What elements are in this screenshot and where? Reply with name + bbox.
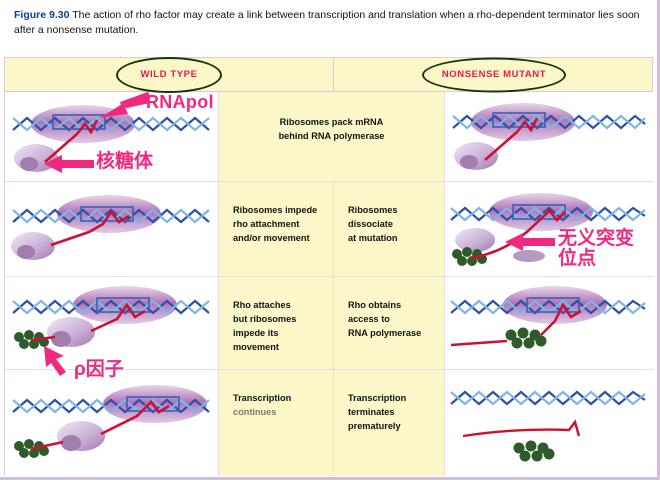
caption-cell-nonsense-row4: Transcription terminates prematurely: [334, 370, 445, 476]
released-mrna-icon: [463, 422, 579, 436]
table-header: WILD TYPE NONSENSE MUTANT: [5, 58, 652, 92]
annotation-nonsense-site-line1: 无义突变: [558, 229, 634, 249]
annotation-nonsense-site-line2: 位点: [558, 249, 634, 269]
caption-cell-nonsense-row3: Rho obtains access to RNA polymerase: [334, 277, 445, 369]
table-row: Rho attaches but ribosomes impede its mo…: [5, 277, 652, 370]
ribosome-icon: [57, 421, 105, 451]
table-row: Ribosomes impede rho attachment and/or m…: [5, 182, 652, 277]
annotation-rho-factor-label: ρ因子: [74, 360, 124, 380]
table-row: Transcription continues Transcription te…: [5, 370, 652, 476]
caption-cell-wild-row4: Transcription continues: [219, 370, 334, 476]
annotation-arrow-nonsense-site-icon: [505, 232, 555, 254]
illustration-nonsense-step3: [445, 277, 653, 369]
illustration-nonsense-step1: [445, 92, 653, 181]
dissociated-ribosome-large-icon: [455, 228, 495, 252]
annotation-ribosome-label: 核糖体: [96, 152, 153, 172]
header-label-wild-type: WILD TYPE: [140, 69, 197, 80]
row4-left-line2: continues: [233, 406, 327, 420]
rho-factor-icon: [514, 441, 555, 462]
illustration-wild-type-step3: [5, 277, 219, 369]
annotation-arrow-ribosome-icon: [44, 154, 94, 176]
illustration-nonsense-step4: [445, 370, 653, 476]
annotation-rna-pol-label: RNApol: [146, 92, 214, 113]
table-body: Ribosomes pack mRNA behind RNA polymeras…: [5, 92, 652, 475]
caption-cell-row1: Ribosomes pack mRNA behind RNA polymeras…: [219, 92, 445, 181]
row1-span-text: Ribosomes pack mRNA behind RNA polymeras…: [219, 116, 444, 144]
row3-right-text: Rho obtains access to RNA polymerase: [348, 299, 438, 341]
annotation-arrow-rna-pol-icon: [98, 94, 152, 120]
row2-right-text: Ribosomes dissociate at mutation: [348, 204, 438, 246]
annotation-nonsense-site-label: 无义突变 位点: [558, 229, 634, 269]
caption-cell-wild-row2: Ribosomes impede rho attachment and/or m…: [219, 182, 334, 276]
rho-factor-icon: [506, 328, 547, 349]
ribosome-icon: [11, 232, 55, 260]
header-cell-nonsense-mutant: NONSENSE MUTANT: [334, 58, 654, 91]
ribosome-icon: [47, 317, 95, 347]
dna-double-helix-icon: [451, 392, 645, 404]
illustration-wild-type-step4: [5, 370, 219, 476]
row3-left-text: Rho attaches but ribosomes impede its mo…: [233, 299, 327, 355]
caption-cell-nonsense-row2: Ribosomes dissociate at mutation: [334, 182, 445, 276]
header-cell-wild-type: WILD TYPE: [5, 58, 334, 91]
illustration-wild-type-step2: [5, 182, 219, 276]
row2-left-text: Ribosomes impede rho attachment and/or m…: [233, 204, 327, 246]
annotation-arrow-rho-factor-icon: [42, 344, 76, 378]
figure-number: Figure 9.30: [14, 9, 69, 21]
header-label-nonsense-mutant: NONSENSE MUTANT: [442, 69, 546, 80]
caption-text: The action of rho factor may create a li…: [14, 9, 640, 36]
caption-cell-wild-row3: Rho attaches but ribosomes impede its mo…: [219, 277, 334, 369]
figure-caption: Figure 9.30 The action of rho factor may…: [14, 8, 646, 38]
row4-right-text: Transcription terminates prematurely: [348, 392, 438, 434]
figure-page: Figure 9.30 The action of rho factor may…: [0, 0, 660, 480]
row4-left-line1: Transcription: [233, 392, 327, 406]
row4-left-text: Transcription continues: [233, 392, 327, 420]
